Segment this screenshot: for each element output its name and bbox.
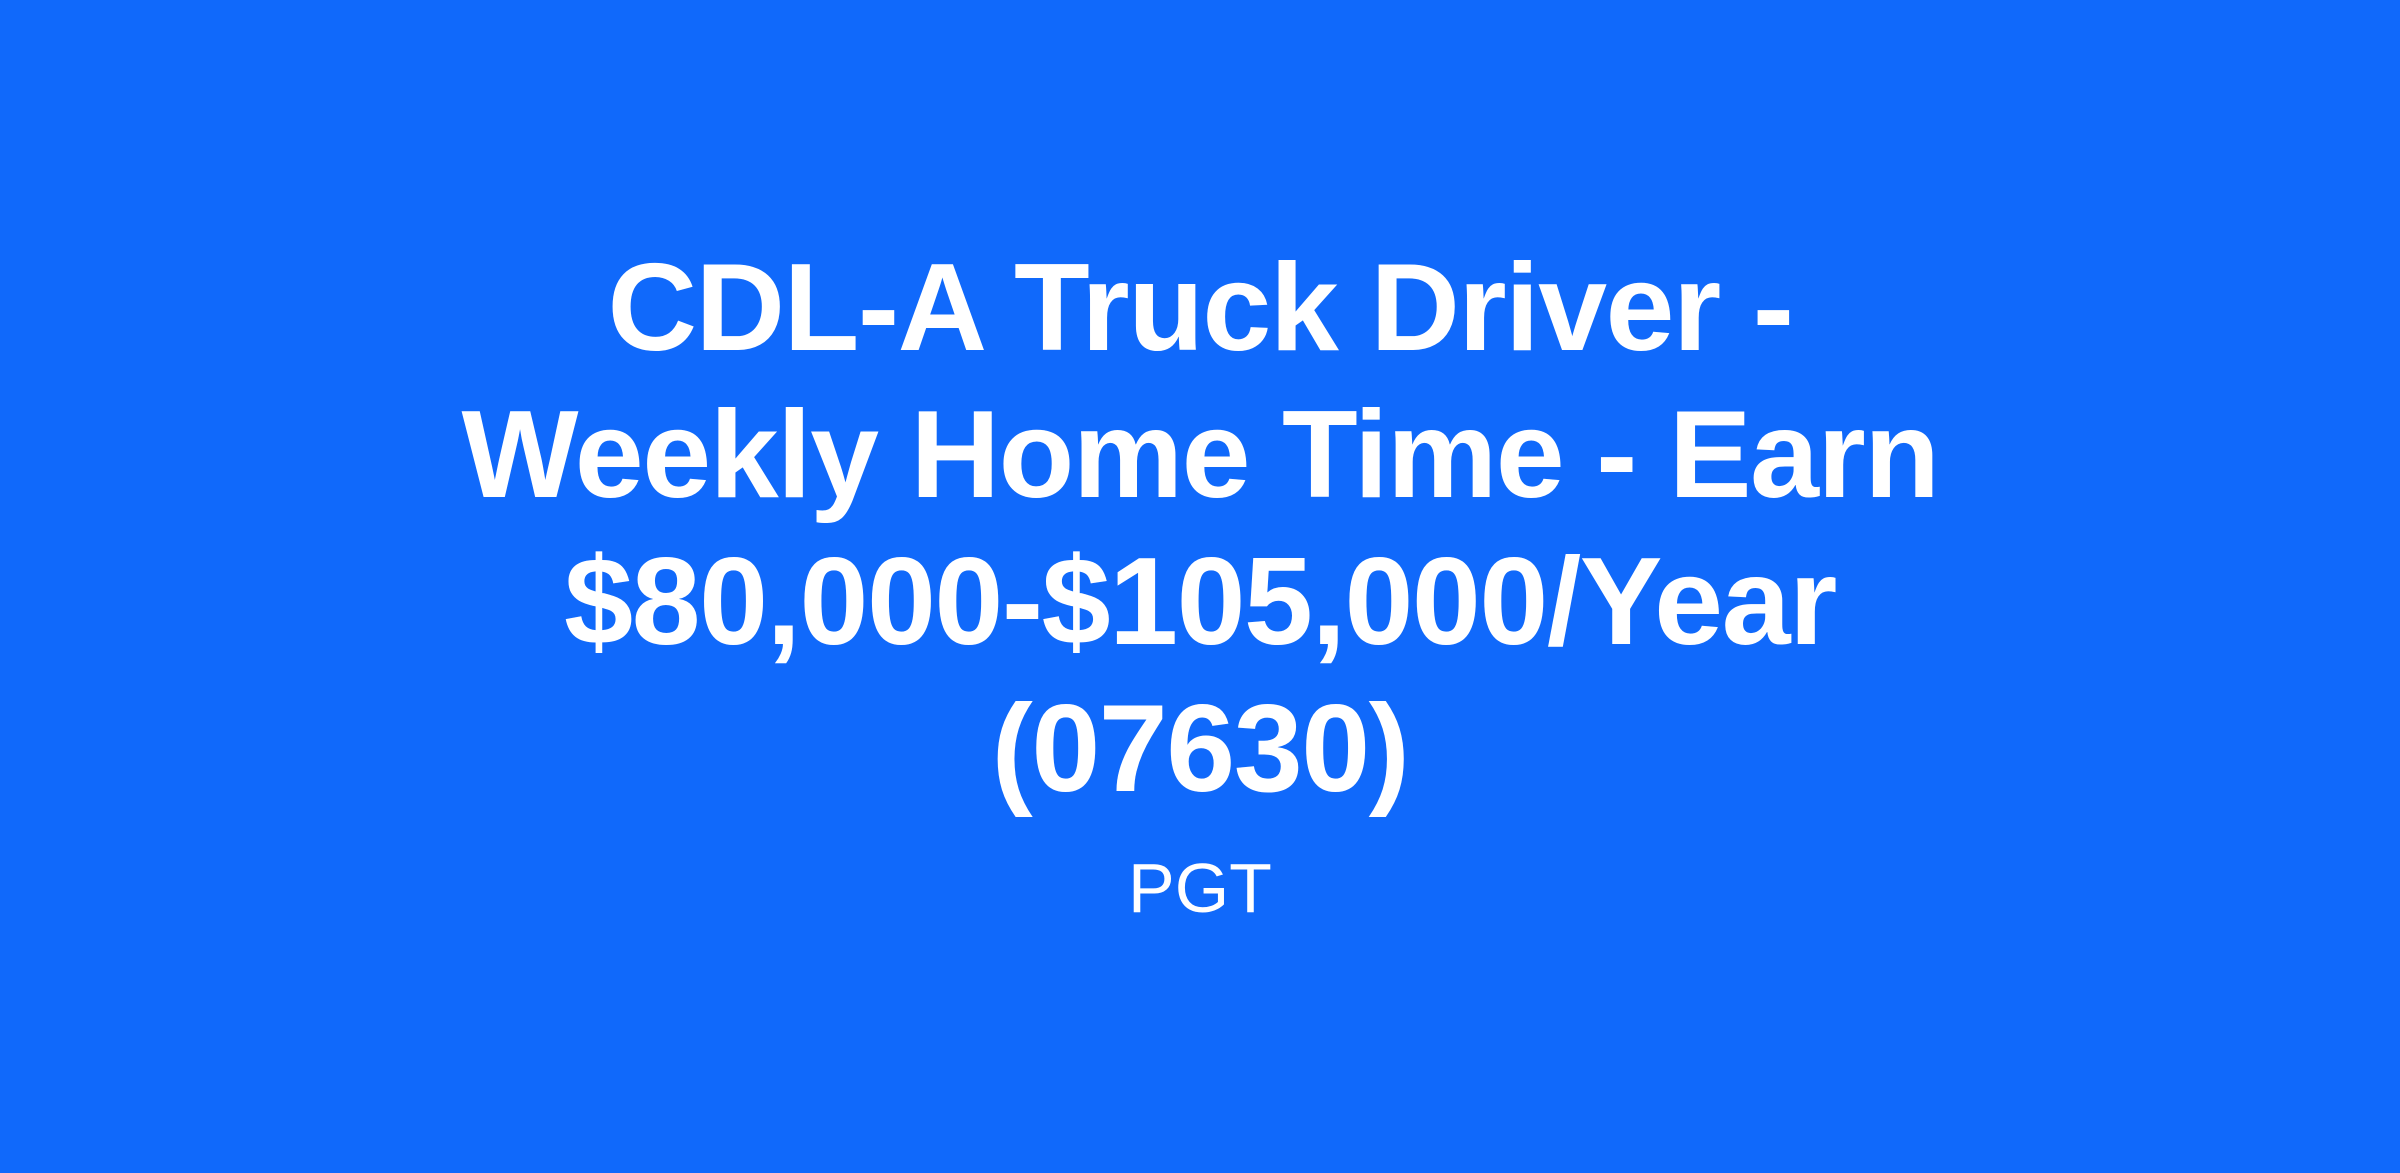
job-share-card: CDL-A Truck Driver - Weekly Home Time - …	[0, 0, 2400, 1173]
card-content: CDL-A Truck Driver - Weekly Home Time - …	[410, 235, 1990, 927]
page-title: CDL-A Truck Driver - Weekly Home Time - …	[420, 235, 1980, 823]
company-name: PGT	[1128, 849, 1272, 927]
